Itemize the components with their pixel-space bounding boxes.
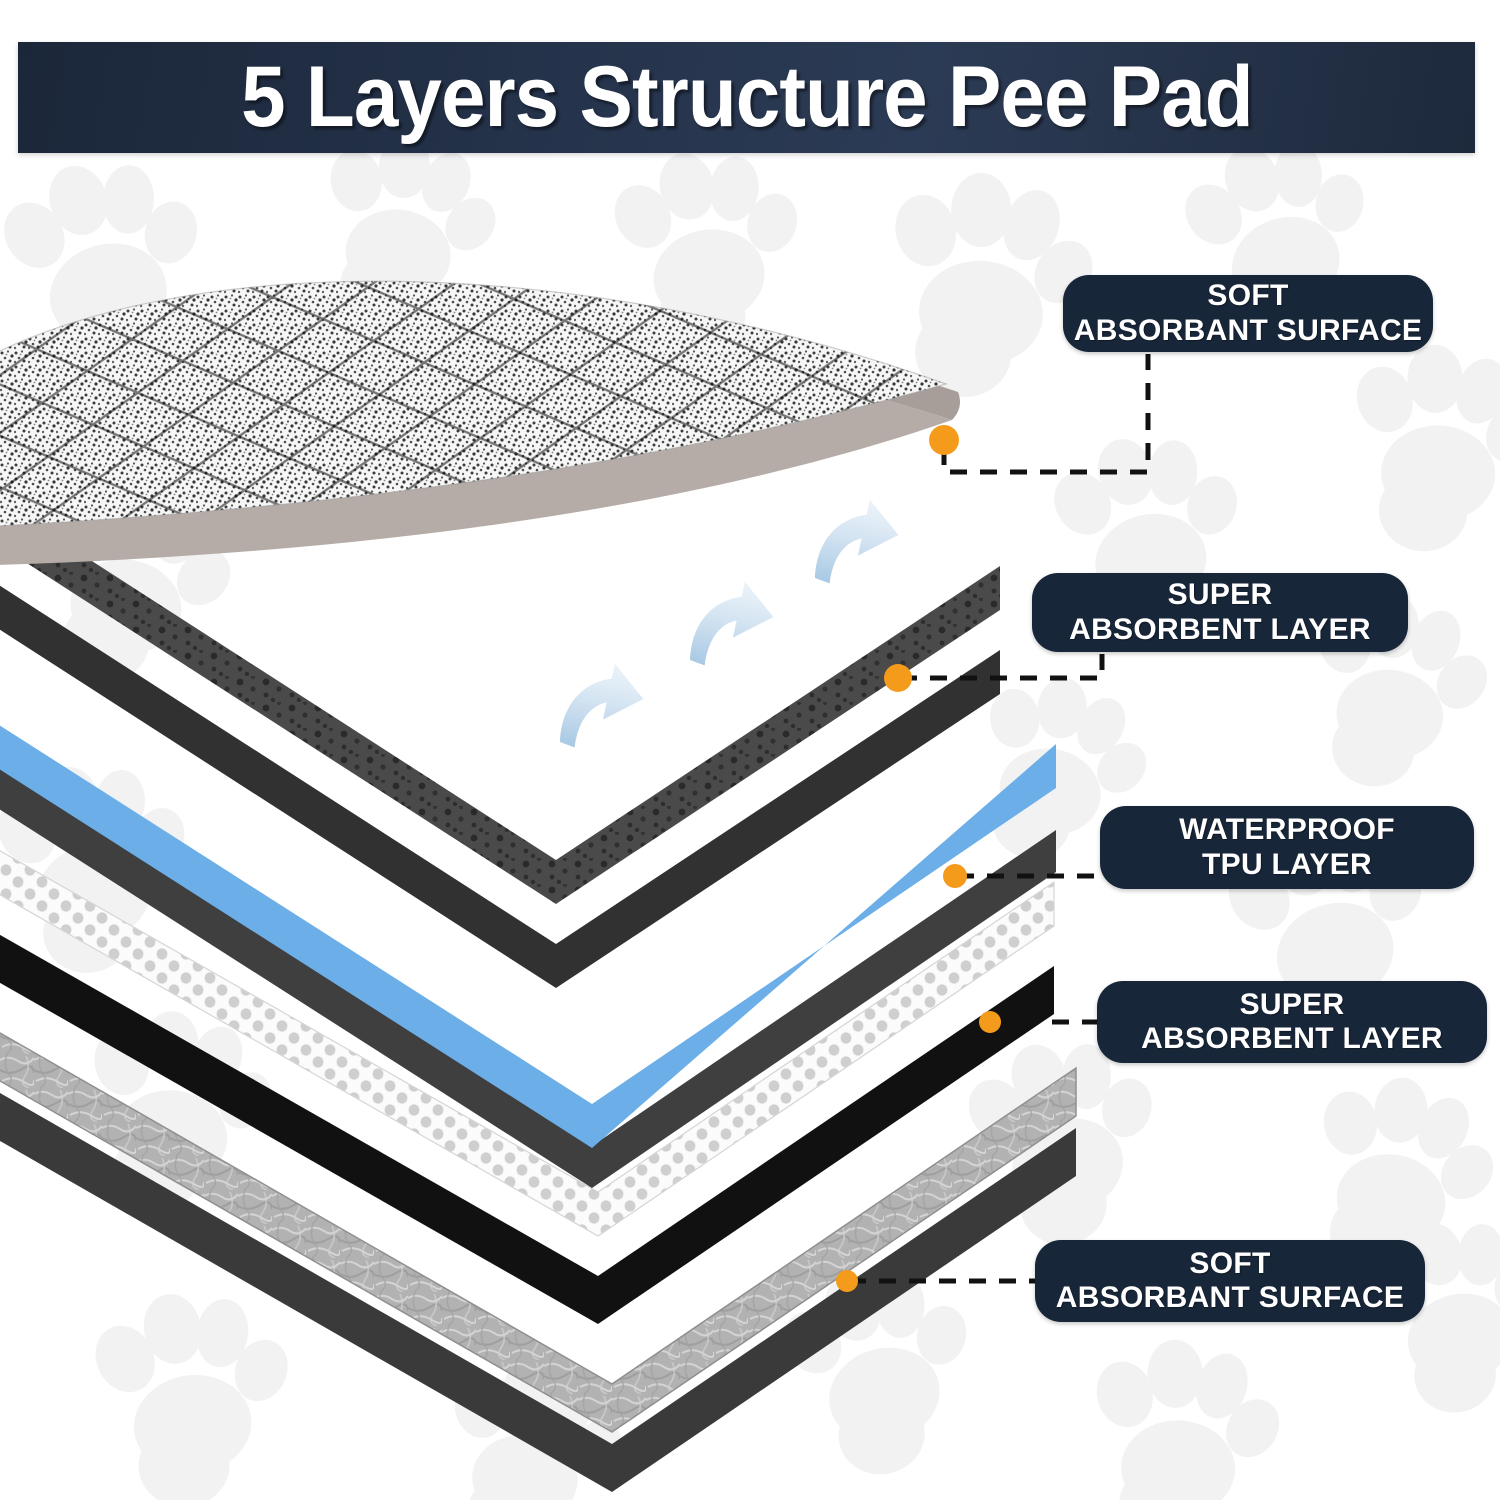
callout-5-line-1: SOFT: [1189, 1247, 1270, 1281]
marker-dot-5: [836, 1270, 858, 1292]
callout-1-line-1: SOFT: [1207, 279, 1288, 313]
callout-2-line-1: SUPER: [1168, 578, 1273, 612]
leader-line-1: [944, 354, 1148, 472]
callout-soft-absorbant-surface-bottom[interactable]: SOFT ABSORBANT SURFACE: [1035, 1240, 1425, 1322]
marker-dot-3: [943, 864, 967, 888]
callout-super-absorbent-layer-upper[interactable]: SUPER ABSORBENT LAYER: [1032, 573, 1408, 652]
page-title: 5 Layers Structure Pee Pad: [241, 48, 1253, 147]
callout-3-line-2: TPU LAYER: [1202, 848, 1372, 882]
leader-line-2: [900, 654, 1102, 678]
callout-1-line-2: ABSORBANT SURFACE: [1074, 314, 1422, 348]
marker-dot-1: [929, 425, 959, 455]
callout-2-line-2: ABSORBENT LAYER: [1069, 613, 1371, 647]
page-title-banner: 5 Layers Structure Pee Pad: [18, 42, 1475, 153]
marker-dot-4: [979, 1011, 1001, 1033]
callout-3-line-1: WATERPROOF: [1179, 813, 1395, 847]
callout-4-line-1: SUPER: [1240, 988, 1345, 1022]
callout-super-absorbent-layer-lower[interactable]: SUPER ABSORBENT LAYER: [1097, 981, 1487, 1063]
callout-4-line-2: ABSORBENT LAYER: [1141, 1022, 1443, 1056]
callout-5-line-2: ABSORBANT SURFACE: [1056, 1281, 1404, 1315]
callout-waterproof-tpu-layer[interactable]: WATERPROOF TPU LAYER: [1100, 806, 1474, 889]
callout-soft-absorbant-surface-top[interactable]: SOFT ABSORBANT SURFACE: [1063, 275, 1433, 352]
infographic-canvas: 5 Layers Structure Pee Pad: [0, 0, 1500, 1500]
marker-dot-2: [884, 664, 912, 692]
